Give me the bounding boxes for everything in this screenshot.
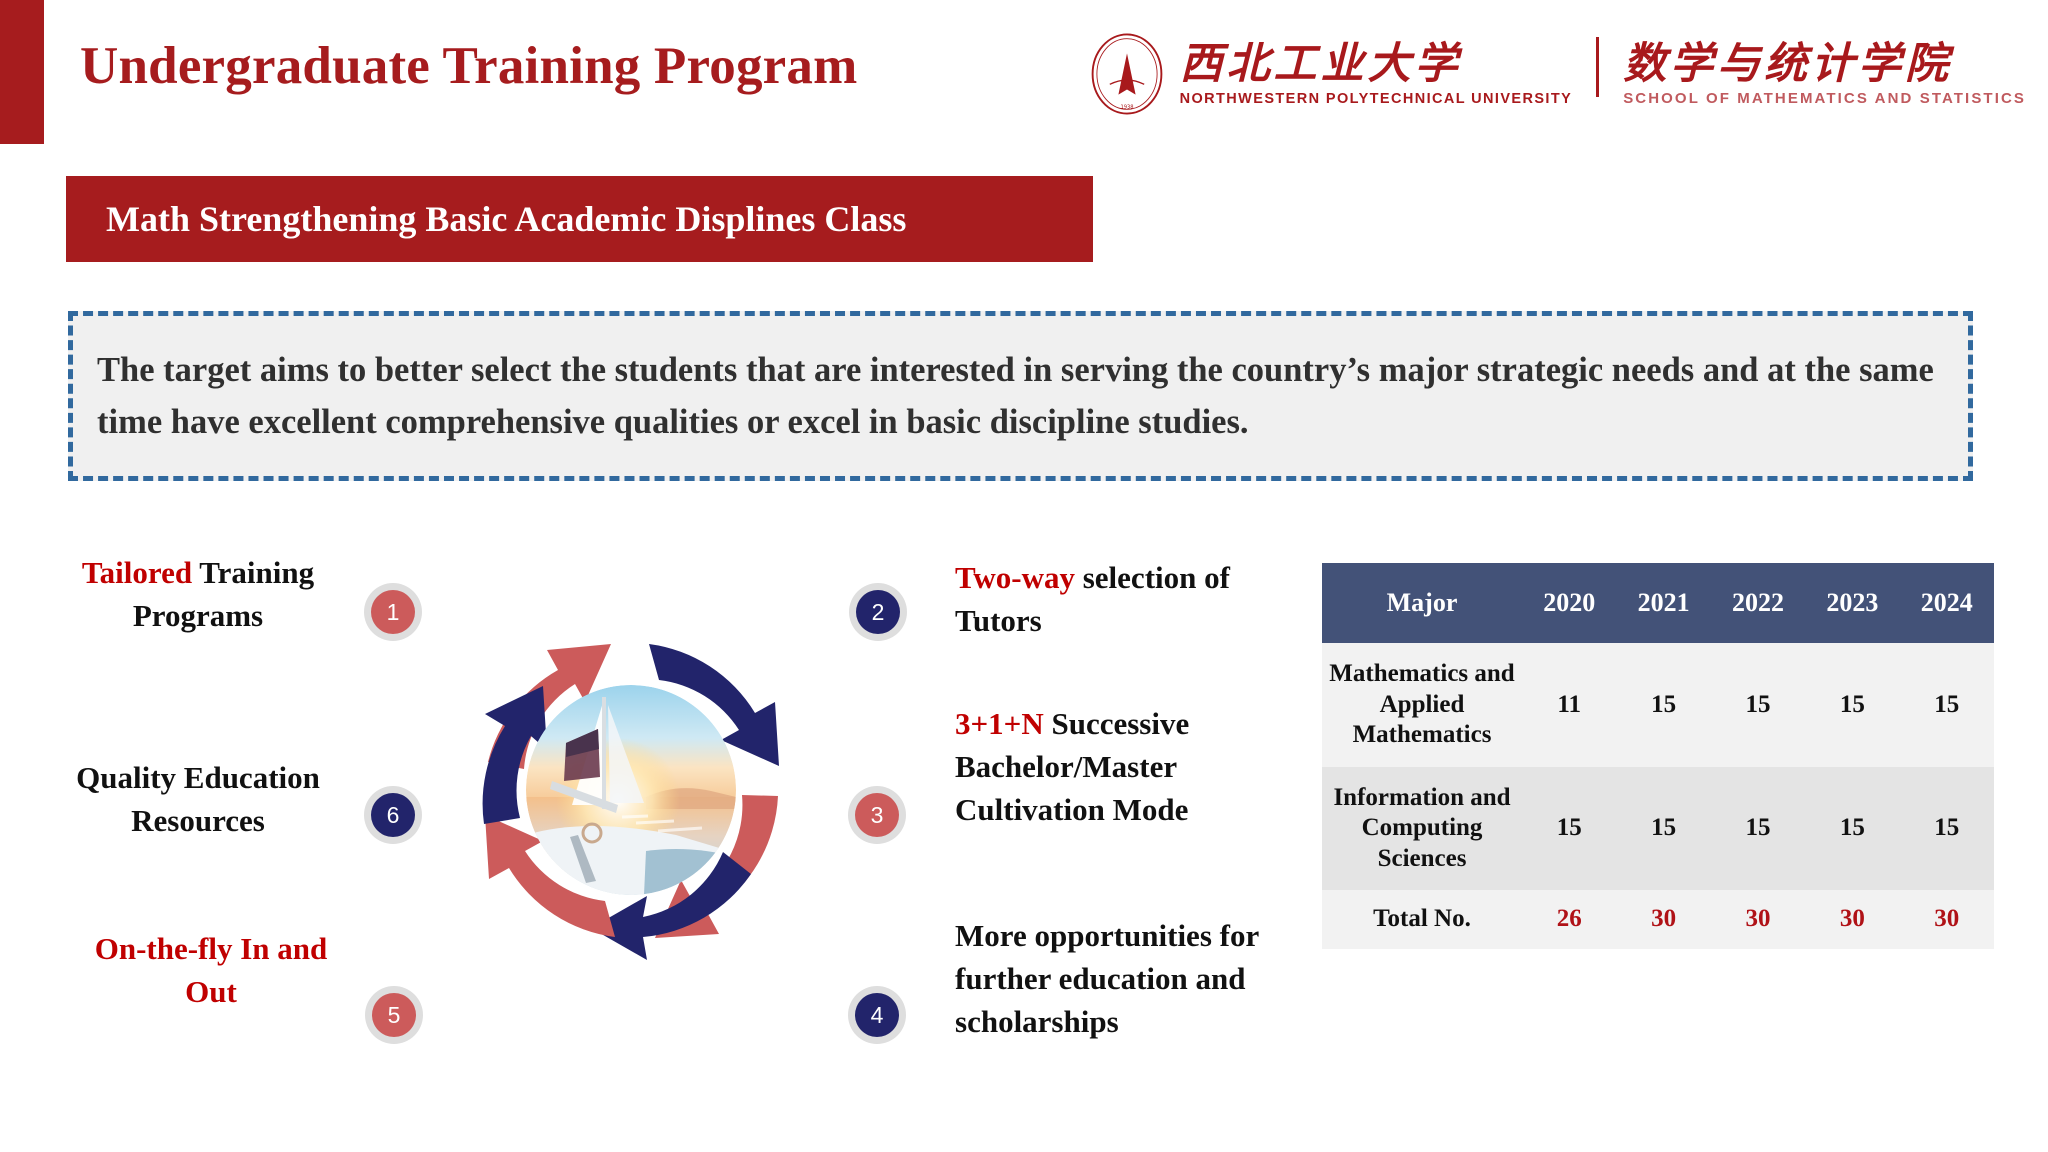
cycle-badge-3-number: 3 bbox=[855, 793, 899, 837]
table-header-2023: 2023 bbox=[1805, 563, 1899, 643]
table-cell-value: 15 bbox=[1616, 767, 1710, 891]
table-header-2020: 2020 bbox=[1522, 563, 1616, 643]
table-cell-value: 15 bbox=[1805, 767, 1899, 891]
cycle-badge-3[interactable]: 3 bbox=[848, 786, 906, 844]
objective-callout-box: The target aims to better select the stu… bbox=[68, 311, 1973, 481]
cycle-label-2-highlight: Two-way bbox=[955, 560, 1075, 595]
table-total-value: 30 bbox=[1900, 890, 1994, 949]
npu-seal-icon: 1938 bbox=[1084, 31, 1170, 117]
table-cell-value: 15 bbox=[1900, 643, 1994, 767]
top-left-accent-bar bbox=[0, 0, 44, 144]
table-cell-major: Information and Computing Sciences bbox=[1322, 767, 1522, 891]
table-cell-value: 15 bbox=[1616, 643, 1710, 767]
cycle-diagram bbox=[400, 570, 920, 1030]
table-cell-value: 15 bbox=[1805, 643, 1899, 767]
cycle-label-4: More opportunities for further education… bbox=[955, 915, 1303, 1043]
table-total-value: 30 bbox=[1616, 890, 1710, 949]
subtitle-banner: Math Strengthening Basic Academic Displi… bbox=[66, 176, 1093, 262]
table-cell-value: 15 bbox=[1522, 767, 1616, 891]
logo-divider bbox=[1596, 37, 1599, 97]
cycle-badge-6-number: 6 bbox=[371, 793, 415, 837]
sailboat-photo-graphic bbox=[526, 685, 736, 895]
table-cell-value: 11 bbox=[1522, 643, 1616, 767]
table-total-value: 30 bbox=[1805, 890, 1899, 949]
school-name-cn: 数学与统计学院 bbox=[1623, 41, 1952, 87]
table-cell-value: 15 bbox=[1711, 643, 1805, 767]
cycle-label-5-text: On-the-fly In and Out bbox=[95, 931, 328, 1009]
table-cell-value: 15 bbox=[1711, 767, 1805, 891]
cycle-badge-2-number: 2 bbox=[856, 590, 900, 634]
table-row: Mathematics and Applied Mathematics 11 1… bbox=[1322, 643, 1994, 767]
cycle-label-2: Two-way selection of Tutors bbox=[955, 557, 1285, 643]
table-cell-value: 15 bbox=[1900, 767, 1994, 891]
table-header-2022: 2022 bbox=[1711, 563, 1805, 643]
cycle-label-5: On-the-fly In and Out bbox=[70, 928, 352, 1014]
cycle-label-3: 3+1+N Successive Bachelor/Master Cultiva… bbox=[955, 703, 1285, 831]
university-name-en: NORTHWESTERN POLYTECHNICAL UNIVERSITY bbox=[1180, 91, 1573, 107]
table-header-major: Major bbox=[1322, 563, 1522, 643]
table-total-value: 26 bbox=[1522, 890, 1616, 949]
cycle-label-6: Quality Education Resources bbox=[42, 757, 354, 843]
university-name-cn: 西北工业大学 bbox=[1180, 41, 1462, 87]
cycle-badge-1[interactable]: 1 bbox=[364, 583, 422, 641]
school-name-en: SCHOOL OF MATHEMATICS AND STATISTICS bbox=[1623, 90, 2026, 107]
cycle-badge-5-number: 5 bbox=[372, 993, 416, 1037]
page-title: Undergraduate Training Program bbox=[80, 36, 857, 96]
cycle-badge-6[interactable]: 6 bbox=[364, 786, 422, 844]
svg-text:1938: 1938 bbox=[1120, 104, 1133, 110]
cycle-badge-4[interactable]: 4 bbox=[848, 986, 906, 1044]
cycle-badge-4-number: 4 bbox=[855, 993, 899, 1037]
cycle-label-4-text: More opportunities for further education… bbox=[955, 918, 1259, 1039]
sailboat-sunset-photo bbox=[526, 685, 736, 895]
table-total-row: Total No. 26 30 30 30 30 bbox=[1322, 890, 1994, 949]
cycle-label-1: Tailored Training Programs bbox=[48, 552, 348, 638]
table-header-2021: 2021 bbox=[1616, 563, 1710, 643]
table-total-value: 30 bbox=[1711, 890, 1805, 949]
cycle-badge-5[interactable]: 5 bbox=[365, 986, 423, 1044]
table-header-row: Major 2020 2021 2022 2023 2024 bbox=[1322, 563, 1994, 643]
table-cell-major: Mathematics and Applied Mathematics bbox=[1322, 643, 1522, 767]
cycle-badge-2[interactable]: 2 bbox=[849, 583, 907, 641]
enrollment-table: Major 2020 2021 2022 2023 2024 Mathemati… bbox=[1322, 563, 1994, 949]
table-header-2024: 2024 bbox=[1900, 563, 1994, 643]
table-row: Information and Computing Sciences 15 15… bbox=[1322, 767, 1994, 891]
subtitle-banner-text: Math Strengthening Basic Academic Displi… bbox=[106, 198, 906, 240]
objective-callout-text: The target aims to better select the stu… bbox=[73, 344, 1968, 449]
cycle-label-6-text: Quality Education Resources bbox=[76, 760, 320, 838]
table-total-label: Total No. bbox=[1322, 890, 1522, 949]
cycle-label-3-highlight: 3+1+N bbox=[955, 706, 1044, 741]
cycle-label-1-highlight: Tailored bbox=[82, 555, 192, 590]
enrollment-table-wrapper: Major 2020 2021 2022 2023 2024 Mathemati… bbox=[1322, 563, 1994, 949]
university-logo: 1938 西北工业大学 NORTHWESTERN POLYTECHNICAL U… bbox=[1084, 24, 2026, 124]
cycle-badge-1-number: 1 bbox=[371, 590, 415, 634]
